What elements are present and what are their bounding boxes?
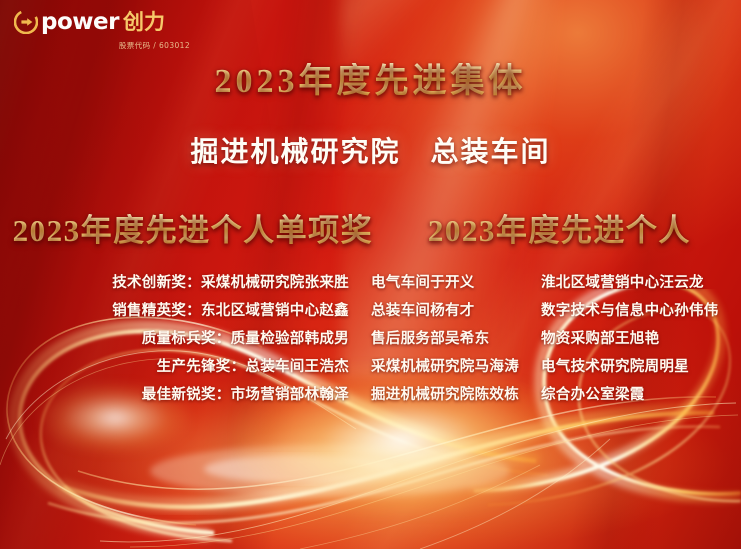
page-title: 2023年度先进集体 xyxy=(0,63,741,100)
column-headings: 2023年度先进个人单项奖 2023年度先进个人 xyxy=(0,214,741,249)
list-item: 技术创新奖：采煤机械研究院张来胜 xyxy=(0,269,349,297)
person-name: 淮北区域营销中心汪云龙 xyxy=(541,269,741,297)
person-name: 物资采购部王旭艳 xyxy=(541,325,741,353)
list-item: 销售精英奖：东北区域营销中心赵鑫 xyxy=(0,297,349,325)
company-logo[interactable]: power 创力 股票代码 / 603012 xyxy=(14,10,204,51)
logo-wordmark-cn: 创力 xyxy=(123,12,165,33)
person-name: 掘进机械研究院陈效栋 xyxy=(371,381,541,409)
person-name: 总装车间杨有才 xyxy=(371,297,541,325)
person-name: 采煤机械研究院马海涛 xyxy=(371,353,541,381)
list-item: 质量标兵奖：质量检验部韩成男 xyxy=(0,325,349,353)
awards-columns: 2023年度先进个人单项奖 2023年度先进个人 技术创新奖：采煤机械研究院张来… xyxy=(0,214,741,409)
list-item: 电气车间于开义 淮北区域营销中心汪云龙 xyxy=(371,269,741,297)
advanced-individuals-list: 电气车间于开义 淮北区域营销中心汪云龙 总装车间杨有才 数字技术与信息中心孙伟伟… xyxy=(371,269,741,410)
c-power-arrow-logo-icon xyxy=(14,10,38,34)
winning-teams-subtitle: 掘进机械研究院 总装车间 xyxy=(0,137,741,169)
award-poster: power 创力 股票代码 / 603012 2023年度先进集体 掘进机械研究… xyxy=(0,0,741,549)
column-heading-advanced-individuals: 2023年度先进个人 xyxy=(386,214,741,249)
person-name: 综合办公室梁霞 xyxy=(541,381,741,409)
list-item: 最佳新锐奖：市场营销部林翰泽 xyxy=(0,381,349,409)
column-bodies: 技术创新奖：采煤机械研究院张来胜 销售精英奖：东北区域营销中心赵鑫 质量标兵奖：… xyxy=(0,269,741,410)
list-item: 掘进机械研究院陈效栋 综合办公室梁霞 xyxy=(371,381,741,409)
person-name: 售后服务部吴希东 xyxy=(371,325,541,353)
person-name: 电气技术研究院周明星 xyxy=(541,353,741,381)
list-item: 生产先锋奖：总装车间王浩杰 xyxy=(0,353,349,381)
list-item: 采煤机械研究院马海涛 电气技术研究院周明星 xyxy=(371,353,741,381)
logo-wordmark-en: power xyxy=(41,11,119,34)
person-name: 数字技术与信息中心孙伟伟 xyxy=(541,297,741,325)
person-name: 电气车间于开义 xyxy=(371,269,541,297)
column-heading-special-awards: 2023年度先进个人单项奖 xyxy=(0,214,386,249)
list-item: 售后服务部吴希东 物资采购部王旭艳 xyxy=(371,325,741,353)
stock-code-label: 股票代码 / 603012 xyxy=(14,40,204,51)
special-awards-list: 技术创新奖：采煤机械研究院张来胜 销售精英奖：东北区域营销中心赵鑫 质量标兵奖：… xyxy=(0,269,371,410)
list-item: 总装车间杨有才 数字技术与信息中心孙伟伟 xyxy=(371,297,741,325)
